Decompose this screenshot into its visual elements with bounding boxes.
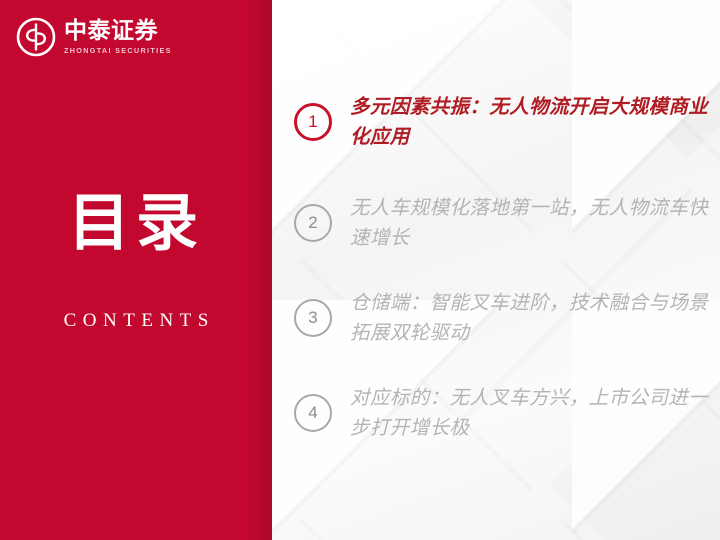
brand-name-en: ZHONGTAI SECURITIES xyxy=(64,46,172,55)
left-red-panel: 中泰证券 ZHONGTAI SECURITIES 目录 CONTENTS xyxy=(0,0,272,540)
toc-label-4: 对应标的：无人叉车方兴，上市公司进一步打开增长极 xyxy=(350,383,714,442)
brand-logo-text: 中泰证券 ZHONGTAI SECURITIES xyxy=(64,19,172,55)
page-title: 目录 xyxy=(0,192,272,254)
toc-item-2[interactable]: 2 无人车规模化落地第一站，无人物流车快速增长 xyxy=(294,193,714,252)
toc-number-badge-2: 2 xyxy=(294,204,332,242)
zhongtai-circle-emblem-icon xyxy=(16,17,56,57)
toc-label-3: 仓储端：智能叉车进阶，技术融合与场景拓展双轮驱动 xyxy=(350,288,714,347)
toc-number-badge-3: 3 xyxy=(294,299,332,337)
slide-contents-page: 中泰证券 ZHONGTAI SECURITIES 目录 CONTENTS 1 多… xyxy=(0,0,720,540)
brand-logo: 中泰证券 ZHONGTAI SECURITIES xyxy=(16,17,172,57)
page-subtitle: CONTENTS xyxy=(0,310,272,332)
toc-item-4[interactable]: 4 对应标的：无人叉车方兴，上市公司进一步打开增长极 xyxy=(294,383,714,442)
toc-item-1[interactable]: 1 多元因素共振：无人物流开启大规模商业化应用 xyxy=(294,92,714,151)
toc-number-badge-4: 4 xyxy=(294,394,332,432)
table-of-contents: 1 多元因素共振：无人物流开启大规模商业化应用 2 无人车规模化落地第一站，无人… xyxy=(272,0,720,540)
toc-number-badge-1: 1 xyxy=(294,103,332,141)
brand-name-cn: 中泰证券 xyxy=(64,19,172,43)
toc-item-3[interactable]: 3 仓储端：智能叉车进阶，技术融合与场景拓展双轮驱动 xyxy=(294,288,714,347)
toc-label-2: 无人车规模化落地第一站，无人物流车快速增长 xyxy=(350,193,714,252)
toc-label-1: 多元因素共振：无人物流开启大规模商业化应用 xyxy=(350,92,714,151)
